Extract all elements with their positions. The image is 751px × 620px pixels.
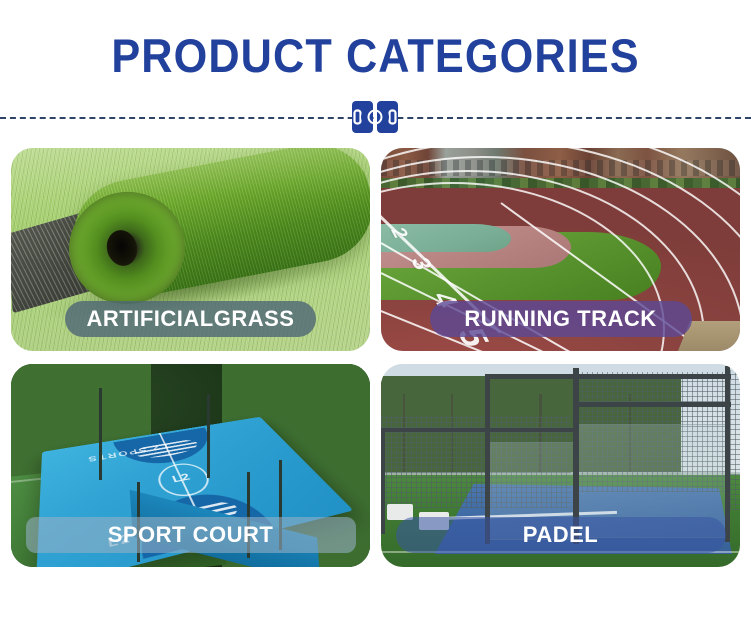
- category-label-artificial-grass[interactable]: ARTIFICIALGRASS: [65, 301, 317, 337]
- frame-beam-top: [485, 374, 731, 379]
- category-card-padel[interactable]: PADEL: [381, 364, 740, 567]
- page-header: PRODUCT CATEGORIES: [0, 0, 751, 140]
- light-pole-1: [99, 388, 102, 480]
- page-title: PRODUCT CATEGORIES: [30, 32, 721, 79]
- category-card-artificial-grass[interactable]: ARTIFICIALGRASS: [11, 148, 370, 351]
- category-card-sport-court[interactable]: L2 L2 SPORTS L2 SPORTS SPORT COURT: [11, 364, 370, 567]
- category-label-padel[interactable]: PADEL: [396, 517, 726, 553]
- frame-post-3: [725, 366, 730, 542]
- soccer-pitch-icon: [352, 101, 398, 133]
- light-pole-2: [207, 394, 210, 478]
- section-divider: [0, 117, 751, 120]
- category-label-running-track[interactable]: RUNNING TRACK: [430, 301, 692, 337]
- frame-beam-left: [381, 428, 577, 432]
- category-label-sport-court[interactable]: SPORT COURT: [26, 517, 356, 553]
- frame-beam-mid: [573, 402, 731, 407]
- frame-post-4: [381, 428, 385, 534]
- category-card-running-track[interactable]: 2 3 4 5 6 RUNNING TRACK: [381, 148, 740, 351]
- product-category-grid: ARTIFICIALGRASS 2: [0, 140, 751, 560]
